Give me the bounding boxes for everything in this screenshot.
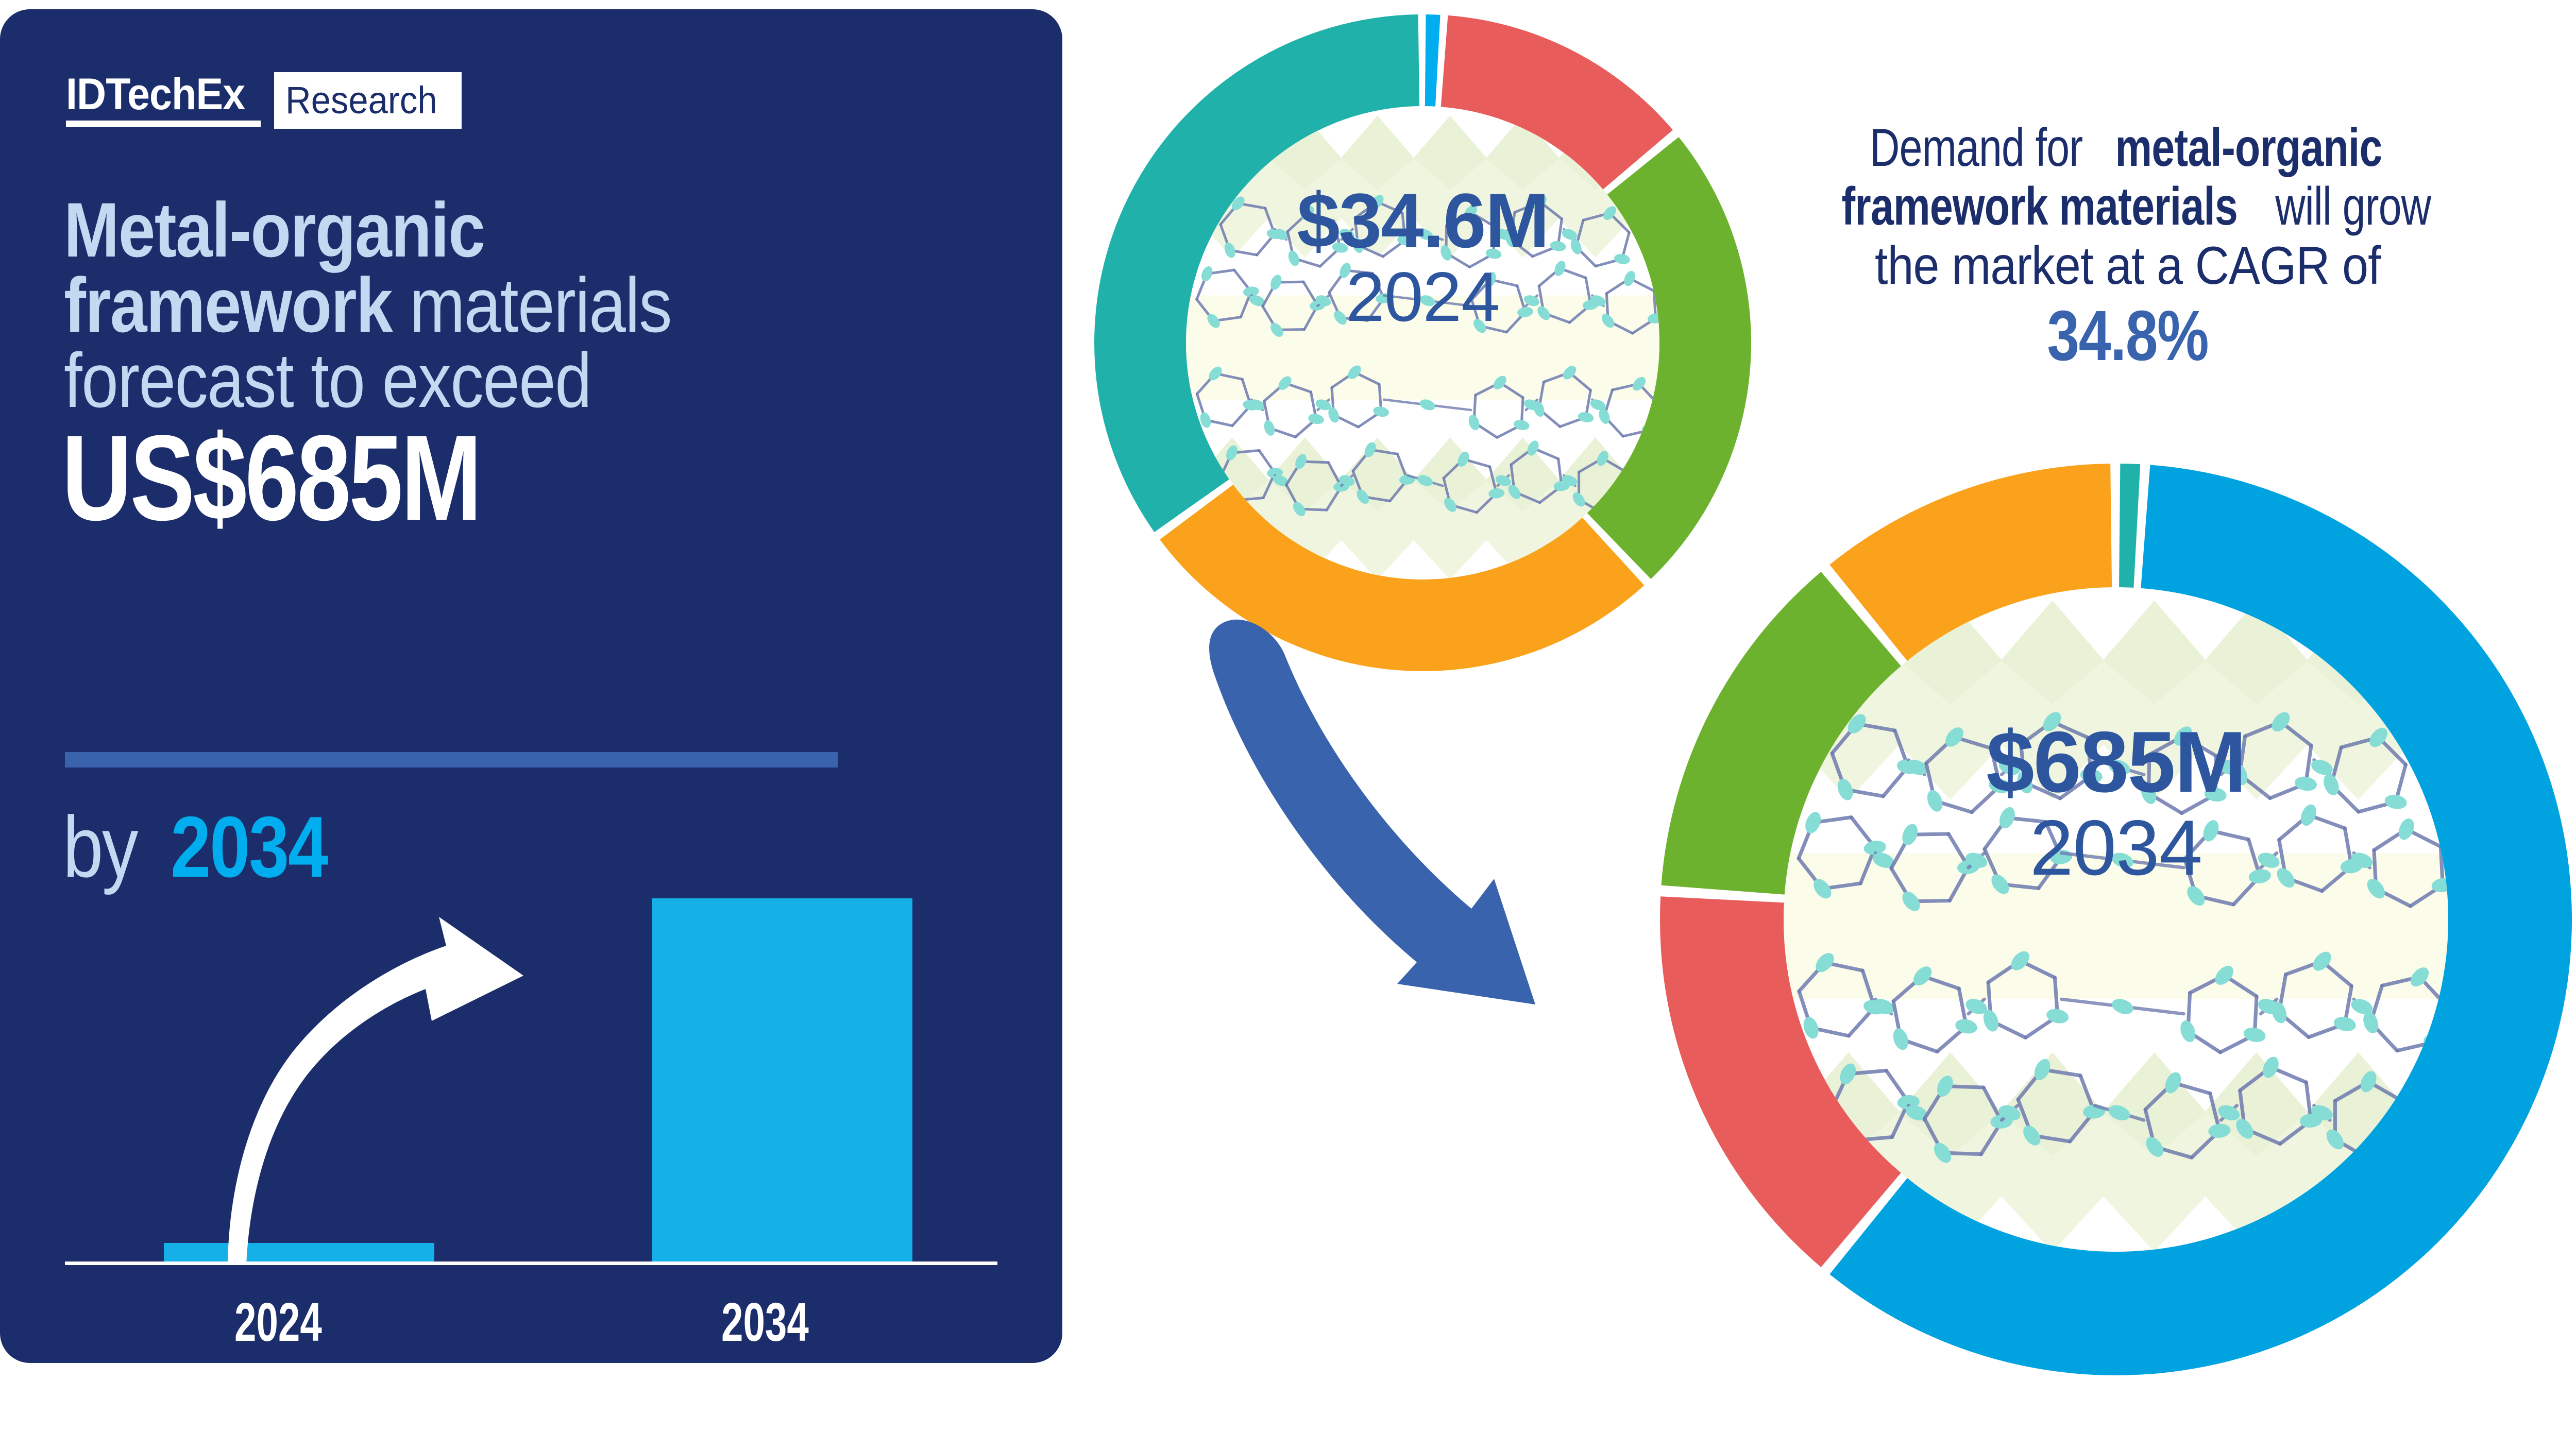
headline-big-value-text: US$685M [62, 417, 480, 539]
mof-node [2332, 1015, 2357, 1033]
divider-rule [65, 752, 838, 768]
mof-node [2422, 1033, 2447, 1051]
mof-node [1262, 419, 1277, 437]
mof-node [2178, 1018, 2198, 1044]
mof-node [1891, 1026, 1911, 1052]
cagr-value-text: 34.8% [2047, 300, 2209, 371]
cagr-text-3: the market at a CAGR of [1875, 236, 2381, 295]
bar-label-2034-text: 2034 [721, 1295, 809, 1350]
headline-line-3: forecast to exceed [64, 341, 1017, 420]
donut-segment [1425, 14, 1440, 107]
by-label: by [63, 804, 137, 890]
headline-line-2: framework materials [64, 266, 1017, 345]
mof-node [1801, 1015, 1821, 1041]
donut-2024-center-text: $34.6M 2024 [1094, 180, 1751, 333]
mof-node [1198, 411, 1213, 429]
mof-node [1467, 414, 1481, 432]
donut-chart-2024: $34.6M 2024 [1094, 14, 1751, 671]
donut-chart-2034: $685M 2034 [1660, 464, 2572, 1375]
headline-line-1: Metal-organic [64, 191, 1017, 269]
bar-label-2034: 2034 [683, 1295, 848, 1350]
donut-2024-year: 2024 [1094, 261, 1751, 333]
donut-segment [2119, 464, 2140, 588]
bar-label-2024: 2024 [196, 1295, 361, 1350]
cagr-text-2: will grow [2275, 177, 2431, 236]
brand-panel: IDTechEx Research Metal-organic framewor… [0, 9, 1062, 1363]
by-year-value: 2034 [171, 804, 327, 890]
logo-idtechex-text: IDTechEx [66, 72, 245, 116]
cagr-line-1: Demand for metal-organic [1762, 118, 2494, 177]
bar-label-2024-text: 2024 [234, 1295, 322, 1350]
donut-2034-value: $685M [1660, 717, 2572, 807]
headline-by-year: by2034 [63, 804, 357, 890]
mof-node [1641, 423, 1658, 436]
logo-underline [66, 121, 261, 127]
headline-framework: framework [64, 262, 392, 348]
cagr-line-3: the market at a CAGR of [1762, 236, 2494, 295]
mof-node [1418, 398, 1437, 413]
logo-research-text: Research [285, 81, 437, 120]
logo-research-box: Research [274, 72, 462, 129]
cagr-bold-2: framework materials [1841, 177, 2238, 236]
headline-line-2-inner: framework materials [64, 266, 671, 345]
donut-2024-value: $34.6M [1094, 180, 1751, 261]
cagr-callout: Demand for metal-organic framework mater… [1762, 118, 2494, 371]
cagr-line-2: framework materials will grow [1762, 177, 2494, 236]
cagr-bold-1: metal-organic [2115, 118, 2382, 177]
cagr-text-1: Demand for [1870, 118, 2082, 177]
mof-structure-background-icon-2 [1784, 587, 2448, 1252]
growth-arrow-icon [65, 898, 1003, 1300]
headline-metal-organic: Metal-organic [64, 191, 484, 269]
cagr-value: 34.8% [1762, 300, 2494, 371]
mof-node [1577, 411, 1595, 423]
logo-idtechex: IDTechEx [66, 72, 261, 128]
donut-2034-year: 2034 [1660, 807, 2572, 889]
headline-big-value: US$685M [62, 417, 584, 539]
logo: IDTechEx Research [66, 72, 462, 128]
headline-forecast: forecast to exceed [64, 341, 591, 420]
transition-arrow-icon [1175, 592, 1680, 1097]
mof-node [2110, 996, 2136, 1017]
headline-materials: materials [392, 262, 671, 348]
bar-chart [65, 898, 1003, 1300]
donut-2034-center-text: $685M 2034 [1660, 717, 2572, 889]
donut-2034-hole [1784, 587, 2448, 1252]
